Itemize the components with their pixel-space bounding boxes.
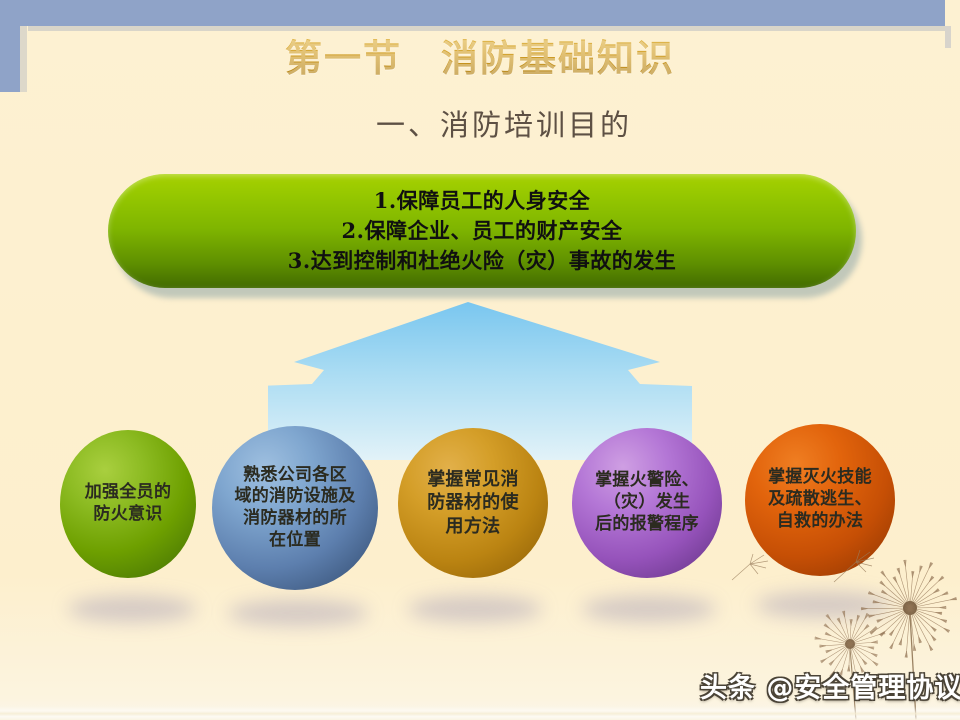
objectives-banner: 1.保障员工的人身安全 2.保障企业、员工的财产安全 3.达到控制和杜绝火险（灾…	[108, 174, 856, 292]
watermark: 头条 @安全管理协议	[700, 666, 960, 705]
sphere-text-line: 及疏散逃生、	[768, 489, 872, 511]
sphere-text-line: 防火意识	[85, 504, 172, 526]
sphere-shadow	[408, 596, 542, 622]
banner-body: 1.保障员工的人身安全 2.保障企业、员工的财产安全 3.达到控制和杜绝火险（灾…	[108, 174, 856, 288]
sphere-shadow	[228, 600, 368, 626]
sphere-text-line: 消防器材的所	[234, 508, 355, 530]
sphere-text-line: 加强全员的	[85, 482, 172, 504]
banner-line-2: 2.保障企业、员工的财产安全	[342, 216, 623, 246]
sphere-text-line: 掌握常见消	[427, 468, 519, 491]
sphere-text-line: 防器材的使	[427, 491, 519, 514]
goal-sphere-4-label: 掌握火警险、 （灾）发生 后的报警程序	[587, 470, 707, 535]
goal-sphere-5-label: 掌握灭火技能 及疏散逃生、 自救的办法	[760, 467, 880, 532]
goal-sphere-3-label: 掌握常见消 防器材的使 用方法	[419, 468, 527, 537]
sphere-text-line: 在位置	[234, 530, 355, 552]
frame-band-top	[18, 0, 945, 26]
goal-sphere-4[interactable]: 掌握火警险、 （灾）发生 后的报警程序	[572, 428, 722, 578]
sphere-text-line: 掌握火警险、	[595, 470, 699, 492]
sphere-shadow	[68, 596, 196, 622]
sphere-text-line: 熟悉公司各区	[234, 465, 355, 487]
slide-canvas: 第一节 消防基础知识 一、消防培训目的 1.保障员工的人身安全 2.保障企业、员…	[0, 0, 960, 720]
sphere-text-line: 后的报警程序	[595, 514, 699, 536]
sphere-text-line: 掌握灭火技能	[768, 467, 872, 489]
banner-line-3: 3.达到控制和杜绝火险（灾）事故的发生	[288, 246, 676, 276]
goal-sphere-1-label: 加强全员的 防火意识	[77, 482, 180, 526]
sphere-shadow	[756, 592, 892, 618]
sphere-text-line: 用方法	[427, 515, 519, 538]
goal-sphere-2-label: 熟悉公司各区 域的消防设施及 消防器材的所 在位置	[226, 465, 363, 552]
bottom-rule	[0, 706, 960, 720]
dandelion-seed-icon	[826, 548, 882, 588]
goal-sphere-1[interactable]: 加强全员的 防火意识	[60, 430, 196, 578]
sphere-text-line: 自救的办法	[768, 511, 872, 533]
sphere-shadow	[582, 596, 716, 622]
slide-title: 第一节 消防基础知识	[0, 28, 960, 82]
goal-sphere-3[interactable]: 掌握常见消 防器材的使 用方法	[398, 428, 548, 578]
goal-sphere-2[interactable]: 熟悉公司各区 域的消防设施及 消防器材的所 在位置	[212, 426, 378, 590]
banner-line-1: 1.保障员工的人身安全	[374, 186, 590, 216]
sphere-text-line: （灾）发生	[595, 492, 699, 514]
dandelion-seed-icon	[726, 552, 772, 586]
slide-subtitle: 一、消防培训目的	[0, 102, 960, 144]
sphere-text-line: 域的消防设施及	[234, 486, 355, 508]
